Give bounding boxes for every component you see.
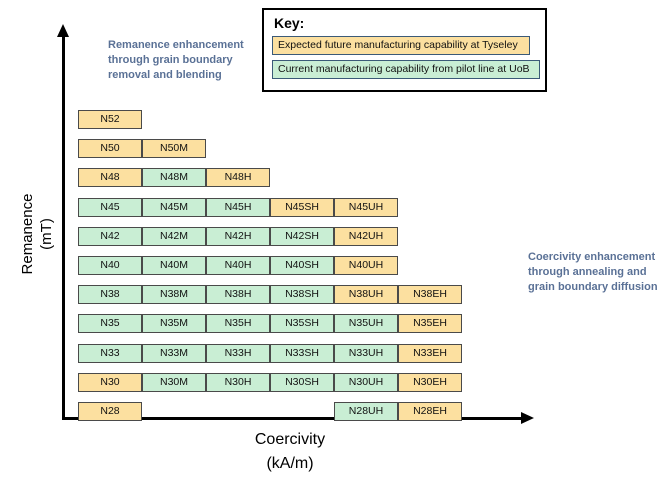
grade-cell[interactable]: N42SH bbox=[270, 227, 334, 246]
x-axis-title: Coercivity (kA/m) bbox=[180, 428, 400, 476]
grade-cell[interactable]: N42 bbox=[78, 227, 142, 246]
grade-cell[interactable]: N42M bbox=[142, 227, 206, 246]
grade-cell[interactable]: N35SH bbox=[270, 314, 334, 333]
grade-cell[interactable]: N30H bbox=[206, 373, 270, 392]
legend-item-current: Current manufacturing capability from pi… bbox=[272, 60, 540, 79]
grade-cell[interactable]: N38EH bbox=[398, 285, 462, 304]
y-axis-arrow-icon bbox=[57, 24, 69, 37]
grade-cell[interactable]: N33SH bbox=[270, 344, 334, 363]
grade-cell[interactable]: N30SH bbox=[270, 373, 334, 392]
grade-cell[interactable]: N40 bbox=[78, 256, 142, 275]
grade-cell[interactable]: N52 bbox=[78, 110, 142, 129]
grade-cell[interactable]: N38M bbox=[142, 285, 206, 304]
grade-cell[interactable]: N40UH bbox=[334, 256, 398, 275]
grade-cell[interactable]: N45H bbox=[206, 198, 270, 217]
grade-cell[interactable]: N28UH bbox=[334, 402, 398, 421]
grade-cell[interactable]: N33H bbox=[206, 344, 270, 363]
grade-cell[interactable]: N33 bbox=[78, 344, 142, 363]
grade-cell[interactable]: N33EH bbox=[398, 344, 462, 363]
annotation-coercivity-enhancement: Coercivity enhancement through annealing… bbox=[528, 250, 660, 295]
y-axis-title-line1: Remanence bbox=[18, 164, 37, 304]
grade-cell[interactable]: N33M bbox=[142, 344, 206, 363]
grade-cell[interactable]: N50M bbox=[142, 139, 206, 158]
grade-cell[interactable]: N38 bbox=[78, 285, 142, 304]
annotation-remanence-enhancement: Remanence enhancement through grain boun… bbox=[108, 38, 253, 83]
grade-cell[interactable]: N38UH bbox=[334, 285, 398, 304]
grade-cell[interactable]: N45 bbox=[78, 198, 142, 217]
grade-cell[interactable]: N30M bbox=[142, 373, 206, 392]
grade-cell[interactable]: N35 bbox=[78, 314, 142, 333]
grade-cell[interactable]: N40SH bbox=[270, 256, 334, 275]
grade-cell[interactable]: N35M bbox=[142, 314, 206, 333]
grade-cell[interactable]: N48 bbox=[78, 168, 142, 187]
grade-cell[interactable]: N38H bbox=[206, 285, 270, 304]
grade-cell[interactable]: N48M bbox=[142, 168, 206, 187]
grade-cell[interactable]: N30 bbox=[78, 373, 142, 392]
legend-key-box: Key: Expected future manufacturing capab… bbox=[262, 8, 547, 92]
grade-cell[interactable]: N33UH bbox=[334, 344, 398, 363]
grade-cell[interactable]: N50 bbox=[78, 139, 142, 158]
grade-cell[interactable]: N42UH bbox=[334, 227, 398, 246]
grade-cell[interactable]: N48H bbox=[206, 168, 270, 187]
grade-cell[interactable]: N45UH bbox=[334, 198, 398, 217]
grade-cell[interactable]: N28EH bbox=[398, 402, 462, 421]
grade-cell[interactable]: N30EH bbox=[398, 373, 462, 392]
grade-cell[interactable]: N42H bbox=[206, 227, 270, 246]
grade-cell[interactable]: N35H bbox=[206, 314, 270, 333]
x-axis-arrow-icon bbox=[521, 412, 534, 424]
x-axis-title-line2: (kA/m) bbox=[180, 452, 400, 476]
grade-cell[interactable]: N40M bbox=[142, 256, 206, 275]
grade-cell[interactable]: N30UH bbox=[334, 373, 398, 392]
grade-cell[interactable]: N38SH bbox=[270, 285, 334, 304]
legend-item-future: Expected future manufacturing capability… bbox=[272, 36, 530, 55]
y-axis-line bbox=[62, 36, 65, 420]
grade-cell[interactable]: N40H bbox=[206, 256, 270, 275]
grade-cell[interactable]: N35EH bbox=[398, 314, 462, 333]
y-axis-title: Remanence (mT) bbox=[18, 164, 56, 304]
legend-title: Key: bbox=[274, 15, 537, 31]
grade-cell[interactable]: N28 bbox=[78, 402, 142, 421]
grade-cell[interactable]: N35UH bbox=[334, 314, 398, 333]
y-axis-title-line2: (mT) bbox=[37, 164, 56, 304]
grade-cell[interactable]: N45M bbox=[142, 198, 206, 217]
chart-canvas: Remanence (mT) Coercivity (kA/m) Remanen… bbox=[0, 0, 662, 483]
x-axis-title-line1: Coercivity bbox=[180, 428, 400, 452]
grade-cell[interactable]: N45SH bbox=[270, 198, 334, 217]
